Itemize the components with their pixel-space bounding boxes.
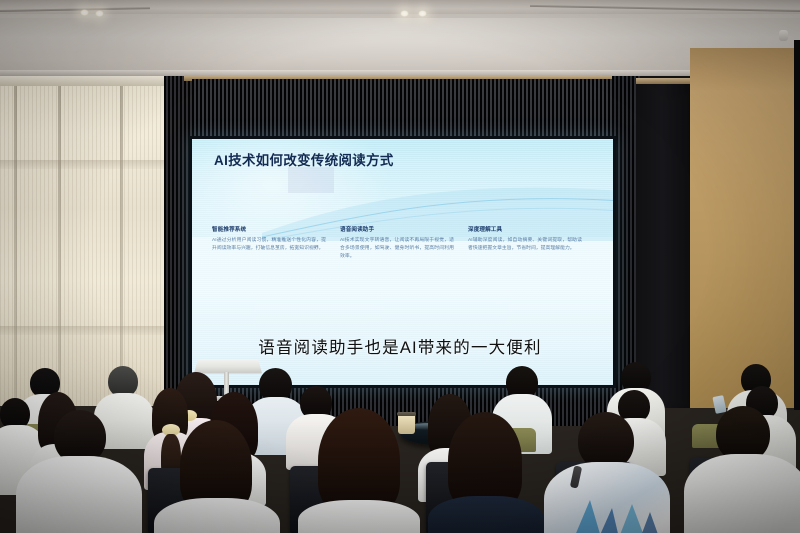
torso xyxy=(298,500,420,533)
slide-title: AI技术如何改变传统阅读方式 xyxy=(214,149,394,169)
polo-pattern xyxy=(566,486,662,533)
slide-column-3-heading: 深度理解工具 xyxy=(468,225,582,233)
torso xyxy=(684,454,800,533)
beverage-cup-lid xyxy=(397,412,416,416)
slide-column-2: 语音阅读助手 AI技术实现文字转语音，让阅读不再局限于视觉，适合多场景使用，如驾… xyxy=(340,225,454,260)
slide-column-2-body: AI技术实现文字转语音，让阅读不再局限于视觉，适合多场景使用，如驾驶、健身时听书… xyxy=(340,237,454,260)
slide-columns: 智能推荐系统 AI通过分析用户阅读习惯，精准推送个性化内容，提升阅读效率与兴趣，… xyxy=(212,225,600,260)
hair xyxy=(318,408,400,514)
torso xyxy=(428,496,544,533)
left-panel-top-trim xyxy=(0,76,166,86)
slat-wall-above-screen xyxy=(192,79,616,139)
torso xyxy=(16,456,142,533)
smoke-detector-icon xyxy=(779,30,788,41)
ceiling-spot-light-2 xyxy=(95,10,104,17)
ceiling-spot-light-4 xyxy=(418,10,427,17)
slide-column-1-body: AI通过分析用户阅读习惯，精准推送个性化内容，提升阅读效率与兴趣，打破信息茧房，… xyxy=(212,237,326,253)
slide-column-3: 深度理解工具 AI辅助深度阅读，如自动摘要、关键词提取，帮助读者快速把握文章主旨… xyxy=(468,225,582,260)
slide-column-1: 智能推荐系统 AI通过分析用户阅读习惯，精准推送个性化内容，提升阅读效率与兴趣，… xyxy=(212,225,326,260)
caption-text: 语音阅读助手也是AI带来的一大便利 xyxy=(0,334,800,358)
ceiling-spot-light-1 xyxy=(80,9,89,16)
slide-column-2-heading: 语音阅读助手 xyxy=(340,225,454,233)
ceiling xyxy=(0,0,800,78)
slide-column-3-body: AI辅助深度阅读，如自动摘要、关键词提取，帮助读者快速把握文章主旨，节省时间，提… xyxy=(468,237,582,253)
ceiling-shading xyxy=(0,18,800,78)
beverage-cup xyxy=(398,414,415,434)
slide-column-1-heading: 智能推荐系统 xyxy=(212,225,326,233)
ceiling-spot-light-3 xyxy=(400,10,409,17)
right-column-top-trim xyxy=(636,78,694,84)
screenshot-scene: AI技术如何改变传统阅读方式 智能推荐系统 AI通过分析用户阅读习惯，精准推送个… xyxy=(0,0,800,533)
torso xyxy=(154,498,280,533)
right-dark-column xyxy=(636,78,694,408)
